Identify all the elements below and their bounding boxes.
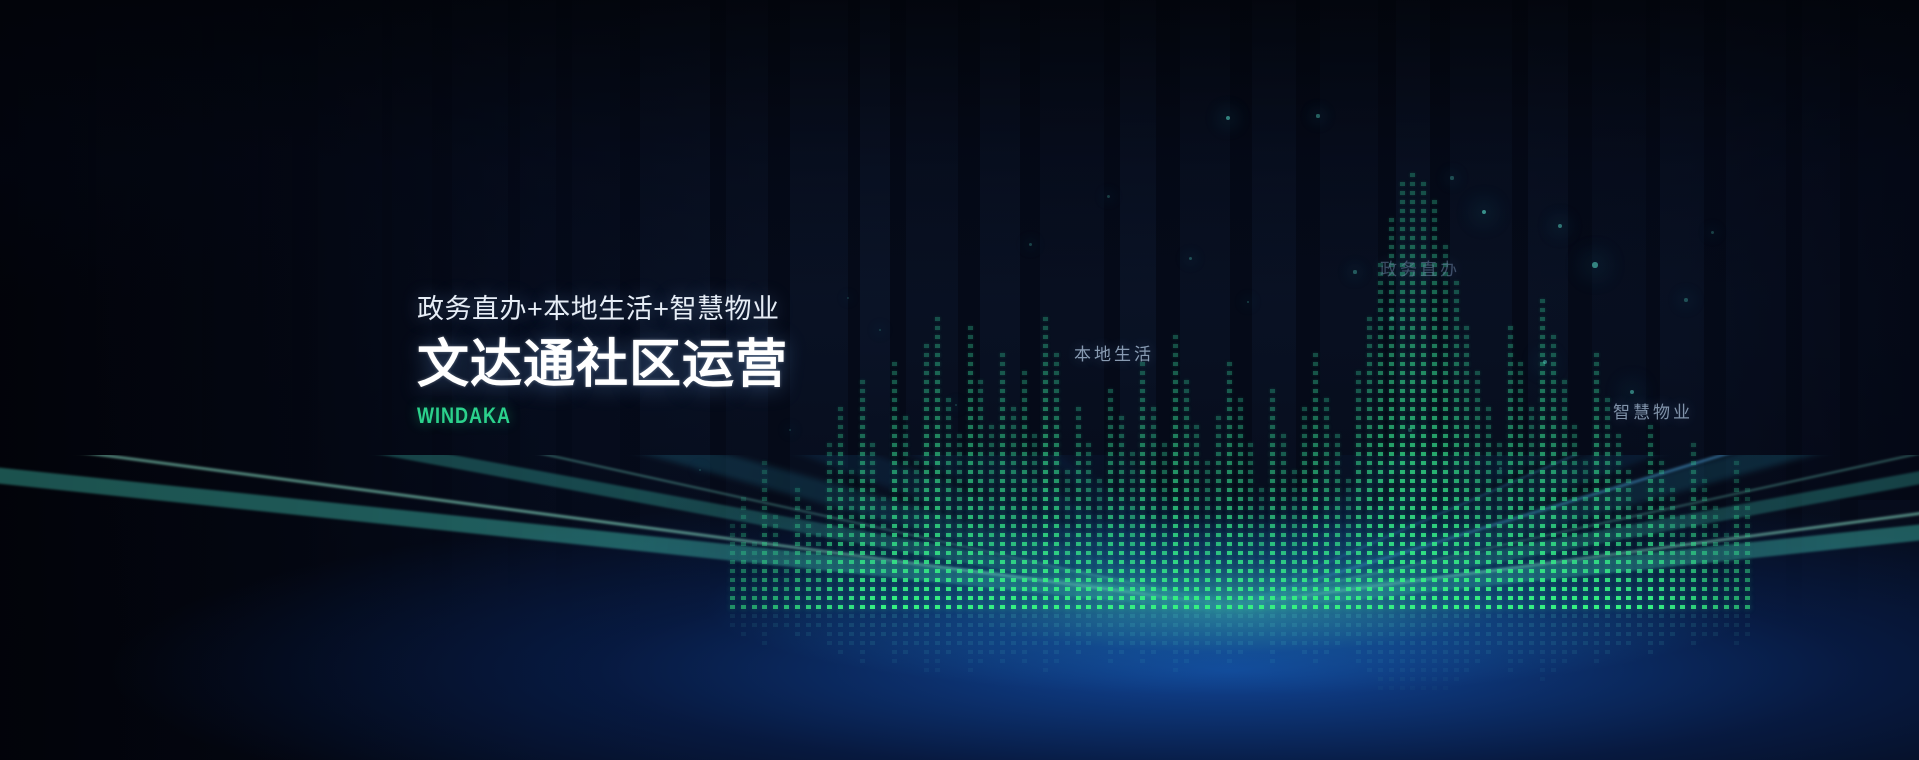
sparkle-particle: [1189, 257, 1192, 260]
sparkle-particle: [1390, 316, 1394, 320]
sparkle-particle: [1408, 428, 1411, 431]
sparkle-particle: [1499, 467, 1502, 470]
sparkle-particle: [1711, 231, 1714, 234]
page-title: 文达通社区运营: [417, 338, 788, 393]
brand-logo-windaka: WINDAKA: [417, 405, 721, 427]
hero-subtitle: 政务直办+本地生活+智慧物业: [417, 296, 788, 323]
sparkle-particle: [1226, 116, 1230, 120]
sparkle-particle: [1450, 176, 1453, 179]
sparkle-particle: [1316, 114, 1319, 117]
sparkle-particle: [1353, 270, 1356, 273]
dot-matrix-bar-chart: [0, 0, 1919, 760]
sparkle-particle: [1029, 243, 1032, 246]
floating-label-1: 本地生活: [1074, 340, 1154, 365]
floating-label-3: 智慧物业: [1613, 398, 1693, 423]
sparkle-particle: [1592, 262, 1597, 267]
hero-text-block: 政务直办+本地生活+智慧物业 文达通社区运营 WINDAKA: [417, 296, 788, 427]
sparkle-particle: [1558, 224, 1562, 228]
hero-banner: 本地生活政务直办智慧物业 政务直办+本地生活+智慧物业 文达通社区运营 WIND…: [0, 0, 1919, 760]
sparkle-particle: [1107, 195, 1110, 198]
floating-label-2: 政务直办: [1380, 255, 1460, 280]
sparkle-particle: [1684, 298, 1688, 302]
